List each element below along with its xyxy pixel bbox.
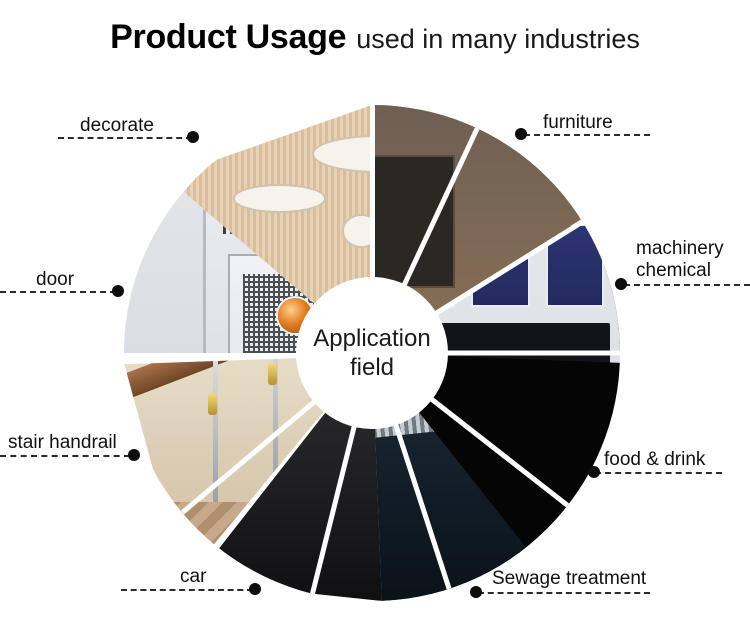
leader-line-machinery-chemical (624, 284, 750, 286)
label-furniture: furniture (543, 112, 613, 134)
title-main: Product Usage (110, 18, 346, 56)
center-hub: Application field (296, 277, 448, 429)
leader-dot-furniture (515, 128, 527, 140)
leader-dot-decorate (187, 131, 199, 143)
label-decorate: decorate (80, 115, 154, 137)
infographic-canvas: Product Usageused in many industries (0, 0, 750, 637)
page-title: Product Usageused in many industries (0, 18, 750, 57)
label-stair-handrail: stair handrail (8, 432, 117, 454)
leader-line-furniture (524, 134, 650, 136)
label-food-drink: food & drink (604, 449, 705, 471)
leader-dot-car (249, 583, 261, 595)
label-machinery-chemical: machinery chemical (636, 238, 724, 282)
center-hub-label: Application field (313, 324, 430, 383)
label-machinery-line-1: machinery (636, 238, 724, 259)
label-door: door (36, 269, 74, 291)
leader-line-stair-handrail (0, 455, 130, 457)
label-sewage-treatment: Sewage treatment (492, 568, 646, 590)
label-machinery-line-2: chemical (636, 260, 711, 281)
leader-dot-food-drink (588, 466, 600, 478)
label-car: car (180, 566, 206, 588)
leader-dot-stair-handrail (128, 449, 140, 461)
application-field-wheel: Application field (124, 105, 620, 601)
leader-line-car (121, 589, 253, 591)
leader-dot-sewage-treatment (470, 586, 482, 598)
title-subtitle: used in many industries (356, 24, 640, 54)
leader-line-sewage-treatment (478, 592, 650, 594)
leader-line-food-drink (595, 472, 722, 474)
center-line-1: Application (313, 325, 430, 352)
center-line-2: field (350, 354, 394, 381)
leader-line-door (0, 291, 116, 293)
leader-dot-door (112, 285, 124, 297)
leader-dot-machinery-chemical (615, 278, 627, 290)
leader-line-decorate (58, 137, 192, 139)
